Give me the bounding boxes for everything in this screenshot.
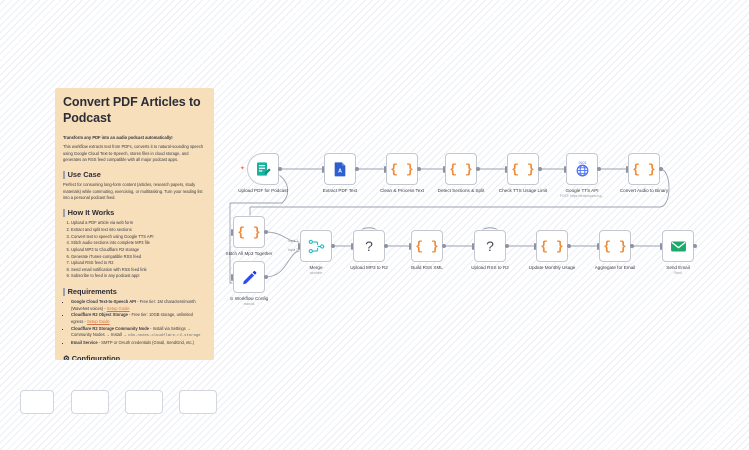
node-output-port[interactable] [597, 167, 601, 171]
toolbar-button-4[interactable] [179, 390, 217, 414]
node-label-update-monthly-usage: Update Monthly Usage [529, 265, 576, 270]
gear-icon: ⚙ [63, 354, 70, 360]
node-output-port[interactable] [264, 230, 268, 234]
node-label-check-tts-usage-limit: Check TTS Usage Limit [499, 188, 547, 193]
pdf-file-icon: A [332, 161, 348, 177]
node-input-port[interactable] [626, 166, 628, 173]
question-mark-icon: ? [486, 239, 494, 253]
sticky-note-title: Convert PDF Articles to Podcast [63, 95, 206, 126]
requirement-item: Cloudflare R2 Object Storage - Free tier… [71, 312, 206, 325]
node-output-port[interactable] [384, 244, 388, 248]
node-body-workflow-config[interactable] [233, 261, 265, 293]
node-body-upload-rss-to-r2[interactable]: ? [474, 230, 506, 262]
node-output-port[interactable] [505, 244, 509, 248]
how-it-works-step: Upload MP3 to Cloudflare R2 storage [71, 247, 206, 254]
node-output-port[interactable] [538, 167, 542, 171]
requirement-name: Cloudflare R2 Storage Community Node [71, 326, 149, 331]
svg-text:A: A [338, 168, 342, 174]
how-it-works-step: Extract and split text into sections [71, 227, 206, 234]
node-input-port[interactable] [384, 166, 386, 173]
requirement-item: Google Cloud Text-to-Speech API - Free t… [71, 299, 206, 312]
node-body-stitch-all-mp3-together[interactable]: { } [233, 216, 265, 248]
node-output-port[interactable] [659, 167, 663, 171]
heading-bar-icon [63, 288, 65, 296]
how-it-works-step: Convert text to speech using Google TTS … [71, 234, 206, 241]
toolbar-button-1[interactable] [20, 390, 54, 414]
node-label-aggregate-for-email: Aggregate for Email [595, 265, 636, 270]
node-output-port[interactable] [476, 167, 480, 171]
requirement-item: Email Service - SMTP or OAuth credential… [71, 340, 206, 347]
trigger-plus-icon[interactable]: ✦ [240, 166, 245, 172]
use-case-heading-text: Use Case [68, 170, 101, 179]
heading-bar-icon [63, 171, 65, 179]
svg-text:0101: 0101 [578, 161, 586, 165]
http-globe-icon: 0101 [574, 161, 591, 178]
node-body-upload-pdf-for-podcast[interactable] [247, 153, 279, 185]
node-body-extract-pdf-text[interactable]: A [324, 153, 356, 185]
node-input-port[interactable] [472, 243, 474, 250]
requirement-setup-link[interactable]: Setup Guide [87, 319, 110, 324]
code-braces-icon: { } [603, 240, 626, 253]
node-input-port[interactable] [534, 243, 536, 250]
sticky-note-lead: Transform any PDF into an audio podcast … [63, 135, 206, 141]
how-it-works-step: Upload a PDF article via web form [71, 220, 206, 227]
node-input-port[interactable] [351, 243, 353, 250]
configuration-heading: ⚙ Configuration [63, 354, 206, 360]
node-input-port[interactable] [231, 229, 233, 236]
use-case-text: Perfect for consuming long-form content … [63, 182, 206, 201]
node-input-port[interactable] [409, 243, 411, 250]
toolbar-button-2[interactable] [71, 390, 109, 414]
node-subtitle-merge: combine [310, 271, 322, 275]
code-braces-icon: { } [390, 163, 413, 176]
node-subtitle-google-tts-api: POST: https://texttospeech.g... [560, 194, 605, 198]
sticky-note-paragraph: This workflow extracts text from PDFs, c… [63, 144, 206, 163]
requirements-heading-text: Requirements [68, 287, 117, 296]
node-body-aggregate-for-email[interactable]: { } [599, 230, 631, 262]
requirement-setup-link[interactable]: Setup Guide [107, 306, 130, 311]
node-body-update-monthly-usage[interactable]: { } [536, 230, 568, 262]
node-output-port[interactable] [442, 244, 446, 248]
code-braces-icon: { } [449, 163, 472, 176]
requirement-name: Google Cloud Text-to-Speech API [71, 299, 136, 304]
node-label-merge: Merge [309, 265, 322, 270]
code-braces-icon: { } [415, 240, 438, 253]
node-output-port[interactable] [331, 244, 335, 248]
node-input-port[interactable] [597, 243, 599, 250]
edit-pencil-icon [241, 269, 257, 285]
node-body-clean-and-process-text[interactable]: { } [386, 153, 418, 185]
node-label-convert-audio-to-binary: Convert Audio to Binary [620, 188, 668, 193]
how-it-works-heading-text: How It Works [68, 208, 115, 217]
node-label-stitch-all-mp3-together: Stitch All Mp3 Together [226, 251, 273, 256]
code-braces-icon: { } [540, 240, 563, 253]
requirements-heading: Requirements [63, 287, 206, 296]
node-output-port[interactable] [567, 244, 571, 248]
requirements-list: Google Cloud Text-to-Speech API - Free t… [63, 299, 206, 346]
node-input-port[interactable] [505, 166, 507, 173]
node-label-upload-mp3-to-r2: Upload MP3 to R2 [350, 265, 388, 270]
node-body-build-rss-xml[interactable]: { } [411, 230, 443, 262]
node-label-send-email: Send Email [666, 265, 690, 270]
node-output-port[interactable] [355, 167, 359, 171]
requirement-package-name: n8n-nodes-cloudflare-r2-storage [128, 334, 200, 338]
node-input-port[interactable] [564, 166, 566, 173]
code-braces-icon: { } [237, 226, 260, 239]
configuration-heading-text: Configuration [72, 354, 120, 360]
node-body-check-tts-usage-limit[interactable]: { } [507, 153, 539, 185]
merge-input-1-label: Input 1 [288, 239, 298, 243]
how-it-works-step: Generate iTunes-compatible RSS feed [71, 254, 206, 261]
code-braces-icon: { } [511, 163, 534, 176]
email-envelope-icon [670, 238, 687, 255]
node-output-port[interactable] [417, 167, 421, 171]
sticky-note-convert-pdf-articles-to-podcast[interactable]: Convert PDF Articles to Podcast Transfor… [55, 88, 214, 360]
how-it-works-step: Upload RSS feed to R2 [71, 260, 206, 267]
toolbar-button-3[interactable] [125, 390, 163, 414]
node-label-clean-and-process-text: Clean & Process Text [380, 188, 424, 193]
requirement-name: Email Service [71, 340, 98, 345]
node-label-upload-rss-to-r2: Upload RSS to R2 [471, 265, 509, 270]
how-it-works-step: Send email notification with RSS feed li… [71, 267, 206, 274]
node-body-convert-audio-to-binary[interactable]: { } [628, 153, 660, 185]
node-subtitle-workflow-config: manual [244, 302, 255, 306]
node-body-google-tts-api[interactable]: 0101 [566, 153, 598, 185]
node-input-port[interactable] [298, 243, 300, 250]
node-input-port[interactable] [322, 166, 324, 173]
merge-icon [308, 238, 325, 255]
requirement-item: Cloudflare R2 Storage Community Node - I… [71, 326, 206, 340]
node-output-port[interactable] [630, 244, 634, 248]
how-it-works-step: Stitch audio sections into complete MP3 … [71, 240, 206, 247]
node-subtitle-send-email: Send [674, 271, 682, 275]
node-output-port[interactable] [278, 167, 282, 171]
use-case-heading: Use Case [63, 170, 206, 179]
how-it-works-steps: Upload a PDF article via web formExtract… [63, 220, 206, 280]
code-braces-icon: { } [632, 163, 655, 176]
requirement-name: Cloudflare R2 Object Storage [71, 312, 128, 317]
node-input-port[interactable] [443, 166, 445, 173]
node-body-detect-sections-and-split[interactable]: { } [445, 153, 477, 185]
question-mark-icon: ? [365, 239, 373, 253]
node-input-port[interactable] [660, 243, 662, 250]
node-label-detect-sections-and-split: Detect Sections & Split [438, 188, 485, 193]
node-label-build-rss-xml: Build RSS XML [411, 265, 443, 270]
merge-input-2-label: Input 2 [288, 248, 298, 252]
how-it-works-heading: How It Works [63, 208, 206, 217]
node-output-port[interactable] [693, 244, 697, 248]
form-trigger-icon [255, 161, 271, 177]
node-label-extract-pdf-text: Extract PDF Text [323, 188, 357, 193]
node-label-google-tts-api: Google TTS API [565, 188, 598, 193]
node-input-port[interactable] [231, 274, 233, 281]
node-body-merge[interactable] [300, 230, 332, 262]
how-it-works-step: Subscribe to feed in any podcast app! [71, 273, 206, 280]
node-label-upload-pdf-for-podcast: Upload PDF for Podcast [238, 188, 288, 193]
node-body-send-email[interactable] [662, 230, 694, 262]
heading-bar-icon [63, 209, 65, 217]
node-body-upload-mp3-to-r2[interactable]: ? [353, 230, 385, 262]
workflow-canvas[interactable]: Convert PDF Articles to Podcast Transfor… [0, 0, 749, 450]
node-output-port[interactable] [264, 275, 268, 279]
